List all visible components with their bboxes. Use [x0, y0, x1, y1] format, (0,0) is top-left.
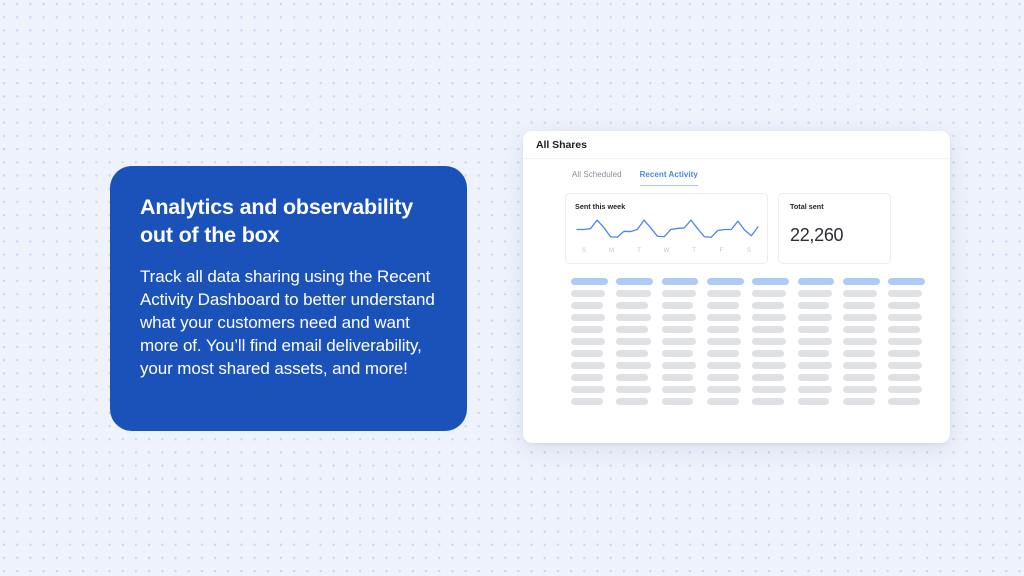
- table-column-header-placeholder: [752, 278, 789, 285]
- table-column-header-placeholder: [662, 278, 699, 285]
- table-row: [662, 386, 696, 393]
- table-row: [571, 374, 603, 381]
- table-column: [571, 278, 608, 405]
- x-tick: W: [662, 247, 672, 254]
- table-row: [616, 326, 648, 333]
- table-row: [752, 398, 784, 405]
- table-row: [888, 314, 922, 321]
- x-tick: T: [689, 247, 699, 254]
- table-row: [888, 386, 922, 393]
- stat-panel-row: Sent this week S M T W T F S Total sent …: [523, 186, 950, 264]
- table-row: [843, 290, 877, 297]
- table-row: [662, 362, 696, 369]
- table-row: [707, 386, 741, 393]
- tab-bar: All Scheduled Recent Activity: [523, 159, 950, 186]
- tab-recent-activity[interactable]: Recent Activity: [640, 170, 698, 186]
- sparkline-svg: [575, 214, 760, 246]
- table-row: [707, 314, 741, 321]
- table-row: [843, 314, 877, 321]
- page-title: All Shares: [536, 139, 587, 151]
- total-sent-label: Total sent: [790, 202, 879, 211]
- table-row: [616, 398, 648, 405]
- table-row: [707, 398, 739, 405]
- table-skeleton: [523, 264, 950, 405]
- table-row: [752, 362, 786, 369]
- table-row: [707, 338, 741, 345]
- table-row: [843, 386, 877, 393]
- sparkline-chart: S M T W T F S: [575, 214, 758, 254]
- table-row: [843, 374, 875, 381]
- table-row: [662, 314, 696, 321]
- dashboard-header: All Shares: [523, 131, 950, 159]
- table-row: [707, 374, 739, 381]
- table-row: [752, 326, 784, 333]
- table-row: [662, 350, 694, 357]
- table-row: [798, 326, 830, 333]
- table-column: [616, 278, 653, 405]
- table-row: [798, 302, 830, 309]
- table-row: [888, 374, 920, 381]
- table-row: [888, 302, 920, 309]
- table-row: [752, 314, 786, 321]
- x-tick: F: [717, 247, 727, 254]
- table-row: [752, 374, 784, 381]
- table-column-header-placeholder: [888, 278, 925, 285]
- table-row: [843, 326, 875, 333]
- table-column-header-placeholder: [616, 278, 653, 285]
- table-row: [662, 374, 694, 381]
- table-row: [616, 302, 648, 309]
- table-row: [752, 350, 784, 357]
- table-row: [707, 350, 739, 357]
- table-column: [707, 278, 744, 405]
- table-row: [888, 362, 922, 369]
- table-column: [662, 278, 699, 405]
- table-row: [798, 386, 832, 393]
- table-row: [616, 338, 650, 345]
- table-column-header-placeholder: [707, 278, 744, 285]
- table-column: [888, 278, 925, 405]
- table-row: [752, 302, 784, 309]
- sent-this-week-label: Sent this week: [575, 202, 758, 211]
- table-row: [798, 314, 832, 321]
- table-row: [888, 398, 920, 405]
- table-row: [843, 350, 875, 357]
- table-row: [843, 398, 875, 405]
- x-tick: S: [579, 247, 589, 254]
- table-row: [843, 338, 877, 345]
- table-row: [843, 302, 875, 309]
- table-row: [662, 338, 696, 345]
- table-row: [798, 362, 832, 369]
- table-row: [616, 362, 650, 369]
- table-row: [662, 326, 694, 333]
- table-row: [571, 350, 603, 357]
- table-row: [888, 338, 922, 345]
- table-column-header-placeholder: [571, 278, 608, 285]
- table-column: [798, 278, 835, 405]
- table-row: [798, 350, 830, 357]
- table-row: [616, 290, 650, 297]
- table-row: [571, 302, 603, 309]
- dashboard-window: All Shares All Scheduled Recent Activity…: [523, 131, 950, 443]
- table-row: [616, 386, 650, 393]
- table-column: [843, 278, 880, 405]
- table-row: [798, 338, 832, 345]
- table-row: [571, 362, 605, 369]
- table-row: [888, 326, 920, 333]
- x-tick: S: [744, 247, 754, 254]
- table-row: [662, 302, 694, 309]
- table-row: [662, 398, 694, 405]
- promo-card: Analytics and observability out of the b…: [110, 166, 467, 431]
- table-row: [571, 386, 605, 393]
- table-row: [707, 302, 739, 309]
- table-row: [752, 338, 786, 345]
- x-tick: M: [607, 247, 617, 254]
- promo-title: Analytics and observability out of the b…: [140, 194, 437, 249]
- table-row: [571, 290, 605, 297]
- table-row: [616, 350, 648, 357]
- total-sent-value: 22,260: [790, 225, 879, 246]
- tab-all-scheduled[interactable]: All Scheduled: [572, 170, 622, 186]
- table-row: [752, 290, 786, 297]
- table-row: [616, 374, 648, 381]
- table-row: [843, 362, 877, 369]
- x-tick: T: [634, 247, 644, 254]
- sent-this-week-panel: Sent this week S M T W T F S: [565, 193, 768, 264]
- total-sent-panel: Total sent 22,260: [778, 193, 891, 264]
- table-row: [571, 314, 605, 321]
- chart-x-axis: S M T W T F S: [575, 246, 758, 254]
- table-row: [707, 362, 741, 369]
- table-column-header-placeholder: [843, 278, 880, 285]
- table-row: [798, 398, 830, 405]
- table-row: [571, 338, 605, 345]
- table-row: [798, 290, 832, 297]
- table-row: [571, 326, 603, 333]
- promo-body-text: Track all data sharing using the Recent …: [140, 265, 437, 381]
- table-row: [752, 386, 786, 393]
- table-row: [888, 290, 922, 297]
- table-row: [662, 290, 696, 297]
- table-row: [571, 398, 603, 405]
- table-row: [798, 374, 830, 381]
- table-row: [707, 290, 741, 297]
- table-column: [752, 278, 789, 405]
- table-column-header-placeholder: [798, 278, 835, 285]
- table-row: [616, 314, 650, 321]
- table-row: [707, 326, 739, 333]
- table-row: [888, 350, 920, 357]
